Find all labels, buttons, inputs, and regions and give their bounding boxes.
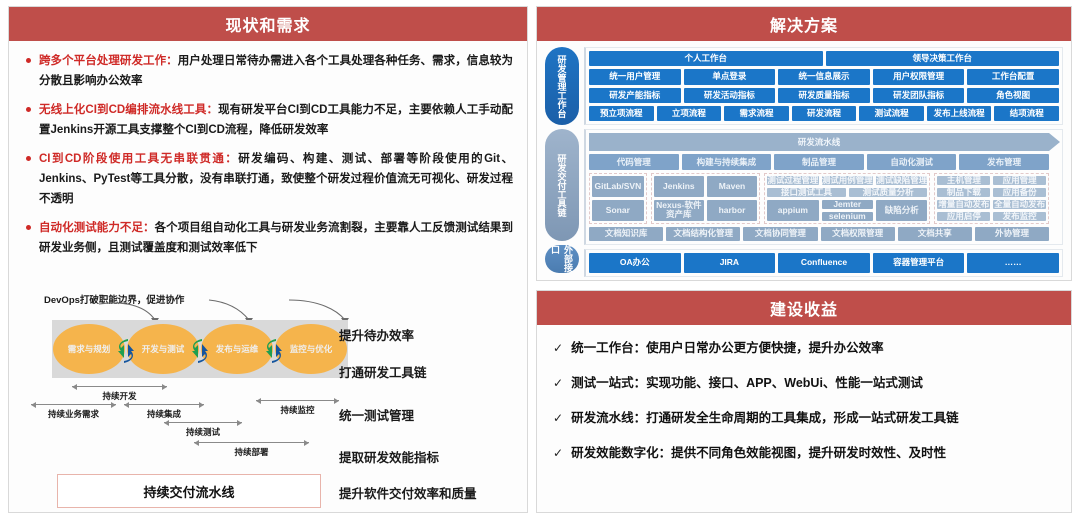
cell-doc-permission[interactable]: 文档权限管理 [821, 227, 895, 241]
cell-doc-structure[interactable]: 文档结构化管理 [666, 227, 740, 241]
tool-harbor[interactable]: harbor [707, 200, 757, 221]
cell-jira[interactable]: JIRA [684, 253, 776, 273]
check-icon: ✓ [553, 339, 563, 357]
deploy-row: 制品下载 应用备份 [937, 188, 1046, 197]
list-item: ✓ 测试一站式：实现功能、接口、APP、WebUi、性能一站式测试 [553, 374, 1059, 392]
cell-artifact-mgmt[interactable]: 制品管理 [774, 154, 864, 170]
pipeline-arrow-bar: 研发流水线 [589, 133, 1049, 151]
cell-doc-kb[interactable]: 文档知识库 [589, 227, 663, 241]
tool-incremental-release[interactable]: 增量自动发布 [937, 200, 990, 209]
benefit-item: 提取研发效能指标 [339, 447, 439, 466]
cell-auto-test[interactable]: 自动化测试 [867, 154, 957, 170]
tool-maven[interactable]: Maven [707, 176, 757, 197]
workbench-row: 预立项流程 立项流程 需求流程 研发流程 测试流程 发布上线流程 结项流程 [589, 106, 1059, 121]
deploy-row: 应用启停 发布监控 [937, 212, 1046, 221]
bullet-highlight: 自动化测试能力不足： [39, 222, 155, 234]
tool-appium[interactable]: appium [767, 200, 818, 221]
cell-sso[interactable]: 单点登录 [684, 69, 776, 84]
cell-activity-metric[interactable]: 研发活动指标 [684, 88, 776, 103]
cell-external-more[interactable]: …… [967, 253, 1059, 273]
sync-icon [115, 338, 137, 364]
continuous-delivery-pipeline-box: 持续交付流水线 [57, 474, 321, 508]
cell-container-platform[interactable]: 容器管理平台 [873, 253, 965, 273]
benefit-text: 研发流水线：打通研发全生命周期的工具集成，形成一站式研发工具链 [571, 409, 959, 427]
list-item: ✓ 研发效能数字化：提供不同角色效能视图，提升研发时效性、及时性 [553, 444, 1059, 462]
tool-sonar[interactable]: Sonar [592, 200, 644, 221]
cell-dev-flow[interactable]: 研发流程 [792, 106, 857, 121]
span-arrow [31, 404, 116, 405]
lane-content-column: 个人工作台 领导决策工作台 统一用户管理 单点登录 统一信息展示 用户权限管理 … [584, 47, 1063, 270]
cell-test-flow[interactable]: 测试流程 [859, 106, 924, 121]
span-arrow [164, 422, 242, 423]
benefits-panel: 建设收益 ✓ 统一工作台：使用户日常办公更方便快捷，提升办公效率 ✓ 测试一站式… [536, 290, 1072, 513]
current-status-panel: 现状和需求 跨多个平台处理研发工作：用户处理日常待办需进入各个工具处理各种任务、… [8, 6, 528, 513]
pipeline-stage-row: 代码管理 构建与持续集成 制品管理 自动化测试 发布管理 [589, 154, 1049, 170]
sync-icon [189, 338, 211, 364]
cell-leader-workbench[interactable]: 领导决策工作台 [826, 51, 1060, 66]
cell-build-ci[interactable]: 构建与持续集成 [682, 154, 772, 170]
cell-role-view[interactable]: 角色视图 [967, 88, 1059, 103]
span-arrow [124, 404, 204, 405]
tool-gitlab-svn[interactable]: GitLab/SVN [592, 176, 644, 197]
cell-oa[interactable]: OA办公 [589, 253, 681, 273]
deploy-row: 增量自动发布 全量自动发布 [937, 200, 1046, 209]
cell-outsourcing-mgmt[interactable]: 外协管理 [975, 227, 1049, 241]
benefit-item: 统一测试管理 [339, 405, 414, 424]
check-icon: ✓ [553, 374, 563, 392]
span-arrow [72, 386, 167, 387]
lane-label-external: 外部接口 [545, 245, 579, 273]
tool-jmeter[interactable]: Jemter [822, 200, 873, 209]
lane-label-column: 研发管理工作台 研发交付工具链 外部接口 [545, 47, 579, 270]
benefit-text: 统一工作台：使用户日常办公更方便快捷，提升办公效率 [571, 339, 884, 357]
cell-pre-project[interactable]: 预立项流程 [589, 106, 654, 121]
bullet-list: 跨多个平台处理研发工作：用户处理日常待办需进入各个工具处理各种任务、需求，信息较… [9, 41, 527, 258]
stage-label: 监控与优化 [275, 324, 347, 374]
benefit-text: 测试一站式：实现功能、接口、APP、WebUi、性能一站式测试 [571, 374, 923, 392]
external-row: OA办公 JIRA Confluence 容器管理平台 …… [589, 253, 1059, 273]
benefits-panel-title: 建设收益 [537, 291, 1071, 325]
check-icon: ✓ [553, 409, 563, 427]
benefit-item: 打通研发工具链 [339, 362, 427, 381]
delivery-toolchain-group: 研发流水线 代码管理 构建与持续集成 制品管理 自动化测试 发布管理 GitLa… [584, 129, 1063, 245]
tool-selenium[interactable]: selenium [822, 212, 873, 221]
test-mid-row: 接口测试工具 测试质量分析 [767, 188, 927, 197]
cell-quality-metric[interactable]: 研发质量指标 [778, 88, 870, 103]
pipeline-arrow-row: 研发流水线 [589, 133, 1049, 151]
test-top-row: 测试过程管理 测试用例管理 测试缺陷管理 [767, 176, 927, 185]
cell-doc-share[interactable]: 文档共享 [898, 227, 972, 241]
tool-test-defect-mgmt[interactable]: 测试缺陷管理 [876, 176, 927, 185]
span-label: 持续开发 [72, 390, 167, 402]
tool-release-monitor[interactable]: 发布监控 [993, 212, 1046, 221]
span-label: 持续测试 [164, 426, 242, 438]
benefit-item: 提升软件交付效率和质量 [339, 483, 477, 502]
cell-team-metric[interactable]: 研发团队指标 [873, 88, 965, 103]
span-label: 持续监控 [256, 404, 339, 416]
cell-code-mgmt[interactable]: 代码管理 [589, 154, 679, 170]
tool-test-case-mgmt[interactable]: 测试用例管理 [822, 176, 873, 185]
tool-api-test[interactable]: 接口测试工具 [767, 188, 846, 197]
solution-panel: 解决方案 研发管理工作台 研发交付工具链 外部接口 个人工作台 领导决策工作台 … [536, 6, 1072, 281]
benefit-text: 研发效能数字化：提供不同角色效能视图，提升研发时效性、及时性 [571, 444, 946, 462]
cell-unified-user-mgmt[interactable]: 统一用户管理 [589, 69, 681, 84]
tool-artifact-download[interactable]: 制品下载 [937, 188, 990, 197]
cell-workbench-config[interactable]: 工作台配置 [967, 69, 1059, 84]
span-label: 持续部署 [194, 446, 309, 458]
management-workbench-group: 个人工作台 领导决策工作台 统一用户管理 单点登录 统一信息展示 用户权限管理 … [584, 47, 1063, 125]
cell-capacity-metric[interactable]: 研发产能指标 [589, 88, 681, 103]
workbench-top-row: 个人工作台 领导决策工作台 [589, 51, 1059, 66]
cell-unified-info[interactable]: 统一信息展示 [778, 69, 870, 84]
tool-defect-analysis[interactable]: 缺陷分析 [876, 200, 927, 221]
cell-personal-workbench[interactable]: 个人工作台 [589, 51, 823, 66]
toolbox-code: GitLab/SVN Sonar [589, 173, 647, 224]
span-label: 持续业务需求 [31, 408, 116, 420]
cell-requirement-flow[interactable]: 需求流程 [724, 106, 789, 121]
toolbox-deploy: 主机管理 应用管理 制品下载 应用备份 增量自动发布 全量自动发布 [934, 173, 1049, 224]
tool-test-process-mgmt[interactable]: 测试过程管理 [767, 176, 818, 185]
bullet-highlight: CI到CD阶段使用工具无串联贯通： [39, 153, 238, 165]
toolbox-test: 测试过程管理 测试用例管理 测试缺陷管理 接口测试工具 测试质量分析 appiu… [764, 173, 930, 224]
list-item: 跨多个平台处理研发工作：用户处理日常待办需进入各个工具处理各种任务、需求，信息较… [25, 51, 513, 91]
tool-jenkins[interactable]: Jenkins [654, 176, 704, 197]
benefit-item: 提升待办效率 [339, 325, 414, 344]
lane-label-management: 研发管理工作台 [545, 47, 579, 125]
devops-diagram: DevOps打破职能边界，促进协作 需求与规划 开发与测试 发布与运维 监控与优… [19, 290, 519, 515]
cell-release-flow[interactable]: 发布上线流程 [927, 106, 992, 121]
sync-icon [263, 338, 285, 364]
solution-architecture-diagram: 研发管理工作台 研发交付工具链 外部接口 个人工作台 领导决策工作台 统一用户管… [537, 41, 1071, 274]
list-item: ✓ 统一工作台：使用户日常办公更方便快捷，提升办公效率 [553, 339, 1059, 357]
lane-label-delivery: 研发交付工具链 [545, 129, 579, 241]
list-item: CI到CD阶段使用工具无串联贯通：研发编码、构建、测试、部署等阶段使用的Git、… [25, 149, 513, 209]
cell-closing-flow[interactable]: 结项流程 [994, 106, 1059, 121]
cell-release-mgmt[interactable]: 发布管理 [959, 154, 1049, 170]
tool-host-mgmt[interactable]: 主机管理 [937, 176, 990, 185]
left-panel-title: 现状和需求 [9, 7, 527, 41]
bullet-highlight: 无线上化CI到CD编排流水线工具： [39, 104, 218, 116]
cell-project-setup[interactable]: 立项流程 [657, 106, 722, 121]
tool-test-quality-analysis[interactable]: 测试质量分析 [849, 188, 928, 197]
bullet-highlight: 跨多个平台处理研发工作： [39, 55, 178, 67]
solution-panel-title: 解决方案 [537, 7, 1071, 41]
stage-box: 监控与优化 [274, 320, 348, 378]
slide-root: 现状和需求 跨多个平台处理研发工作：用户处理日常待办需进入各个工具处理各种任务、… [0, 0, 1080, 519]
span-arrow [194, 442, 309, 443]
test-bottom-row: appium Jemter selenium 缺陷分析 [767, 200, 927, 221]
document-row: 文档知识库 文档结构化管理 文档协同管理 文档权限管理 文档共享 外协管理 [589, 227, 1049, 241]
benefits-list: ✓ 统一工作台：使用户日常办公更方便快捷，提升办公效率 ✓ 测试一站式：实现功能… [537, 325, 1071, 462]
list-item: 无线上化CI到CD编排流水线工具：现有研发平台CI到CD工具能力不足，主要依赖人… [25, 100, 513, 140]
toolbox-build: Jenkins Nexus-软件资产库 Maven harbor [651, 173, 760, 224]
tool-app-mgmt[interactable]: 应用管理 [993, 176, 1046, 185]
span-label: 持续集成 [124, 408, 204, 420]
tool-matrix: GitLab/SVN Sonar Jenkins Nexus-软件资产库 Mav… [589, 173, 1049, 224]
tool-full-release[interactable]: 全量自动发布 [993, 200, 1046, 209]
check-icon: ✓ [553, 444, 563, 462]
list-item: ✓ 研发流水线：打通研发全生命周期的工具集成，形成一站式研发工具链 [553, 409, 1059, 427]
tool-app-backup[interactable]: 应用备份 [993, 188, 1046, 197]
tool-app-startstop[interactable]: 应用启停 [937, 212, 990, 221]
workbench-row: 统一用户管理 单点登录 统一信息展示 用户权限管理 工作台配置 [589, 69, 1059, 84]
list-item: 自动化测试能力不足：各个项目组自动化工具与研发业务流割裂，主要靠人工反馈测试结果… [25, 218, 513, 258]
workbench-row: 研发产能指标 研发活动指标 研发质量指标 研发团队指标 角色视图 [589, 88, 1059, 103]
cell-user-permission[interactable]: 用户权限管理 [873, 69, 965, 84]
cell-confluence[interactable]: Confluence [778, 253, 870, 273]
tool-nexus[interactable]: Nexus-软件资产库 [654, 200, 704, 221]
external-interface-group: OA办公 JIRA Confluence 容器管理平台 …… [584, 249, 1063, 277]
span-arrow [256, 400, 339, 401]
deploy-row: 主机管理 应用管理 [937, 176, 1046, 185]
cell-doc-collab[interactable]: 文档协同管理 [743, 227, 817, 241]
